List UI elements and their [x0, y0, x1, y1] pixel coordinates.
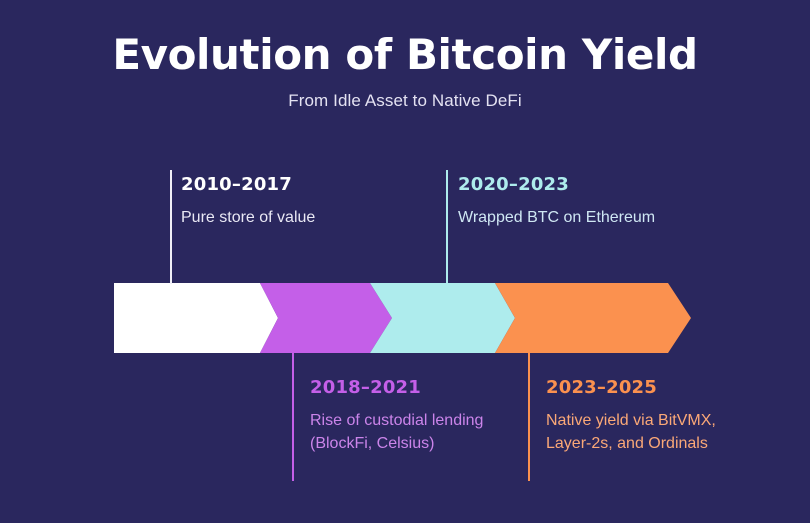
connector-stem-2023-2025: [528, 353, 530, 481]
era-description: Wrapped BTC on Ethereum: [458, 196, 668, 229]
era-label: 2018–2021: [310, 377, 510, 399]
timeline-label-2010-2017: 2010–2017 Pure store of value: [181, 174, 421, 229]
era-label: 2023–2025: [546, 377, 746, 399]
timeline-label-2020-2023: 2020–2023 Wrapped BTC on Ethereum: [458, 174, 668, 229]
arrow-segment-3: [370, 283, 515, 353]
arrow-segment-1: [114, 283, 278, 353]
era-description: Pure store of value: [181, 196, 421, 229]
arrow-segment-4: [495, 283, 691, 353]
timeline-label-2018-2021: 2018–2021 Rise of custodial lending (Blo…: [310, 377, 510, 455]
timeline-label-2023-2025: 2023–2025 Native yield via BitVMX, Layer…: [546, 377, 746, 455]
era-label: 2020–2023: [458, 174, 668, 196]
header: Evolution of Bitcoin Yield From Idle Ass…: [0, 0, 810, 111]
connector-stem-2010-2017: [170, 170, 172, 284]
page-title: Evolution of Bitcoin Yield: [0, 0, 810, 78]
connector-stem-2018-2021: [292, 353, 294, 481]
arrow-segment-2: [260, 283, 392, 353]
connector-stem-2020-2023: [446, 170, 448, 284]
infographic-canvas: Evolution of Bitcoin Yield From Idle Ass…: [0, 0, 810, 523]
era-description: Rise of custodial lending (BlockFi, Cels…: [310, 399, 510, 455]
page-subtitle: From Idle Asset to Native DeFi: [0, 78, 810, 111]
era-description: Native yield via BitVMX, Layer-2s, and O…: [546, 399, 746, 455]
era-label: 2010–2017: [181, 174, 421, 196]
